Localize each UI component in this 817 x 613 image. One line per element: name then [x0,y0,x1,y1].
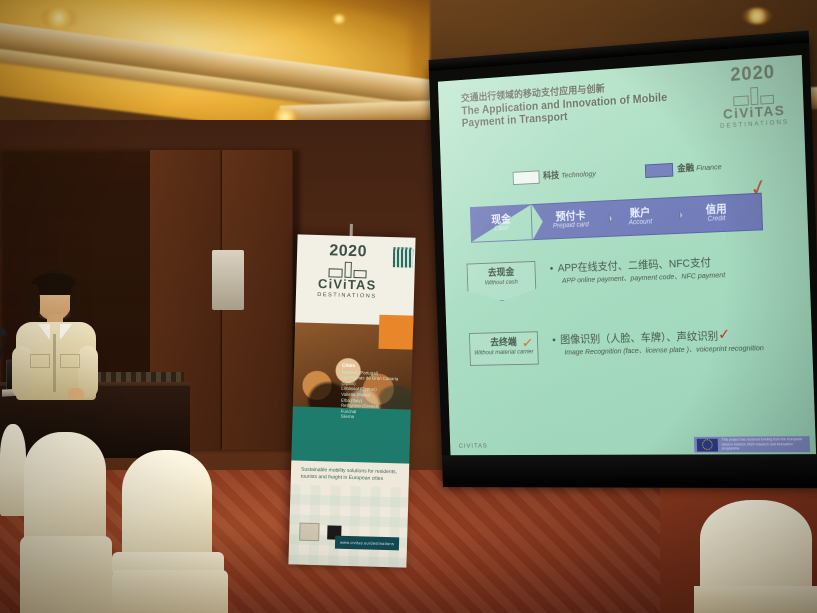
legend-label-technology-cn: 科技 [543,170,559,180]
eu-flag-icon [697,438,718,451]
flow-step-account: 账户 Account [600,197,681,237]
flow-step-prepaid-card: 预付卡 Prepaid card [531,200,610,240]
flow-step-account-en: Account [629,218,653,227]
civitas-logo: 2020 CiViTAS DESTINATIONS [711,62,797,144]
bullet-dot-icon-2: • [552,335,556,347]
presenter-hair-right [70,284,82,324]
bullets-without-cash: •APP在线支付、二维码、NFC支付 APP online payment、pa… [550,254,726,287]
slide-footer-civitas: CIVITAS [459,443,488,450]
sponsor-logo-1 [299,523,319,542]
slide-title: 交通出行领域的移动支付应用与创新 The Application and Inn… [461,75,717,131]
presenter-collar-left [38,324,50,340]
slide-legend: 科技 Technology 金融 Finance [513,156,783,185]
presenter-pocket-right [60,354,80,368]
conference-room-photo: 交通出行领域的移动支付应用与创新 The Application and Inn… [0,0,817,613]
legend-label-finance-en: Finance [696,162,722,172]
legend-swatch-technology [513,170,540,185]
presenter-pocket-left [30,354,50,368]
slide-row-without-cash: 去现金 Without cash •APP在线支付、二维码、NFC支付 APP … [467,254,726,302]
screen-bottom-bar [442,454,817,488]
downlight-1 [40,8,78,28]
banner-cities-list: Cities Madeira (Portugal) Las Palmas de … [340,364,404,422]
banner-orange-block [378,315,413,350]
flow-step-cash-en: Cash [494,225,509,233]
presentation-slide: 交通出行领域的移动支付应用与创新 The Application and Inn… [438,55,816,455]
legend-label-finance-cn: 金融 [677,163,694,174]
bullet-dot-icon: • [550,263,554,275]
legend-item-finance: 金融 Finance [645,159,722,178]
presenter-hand [68,388,84,400]
presenter-hair-left [28,284,40,324]
downlight-5 [742,8,772,24]
legend-swatch-finance [645,163,673,178]
payment-evolution-flow: 现金 Cash 预付卡 Prepaid card 账户 Account 信用 C… [470,192,775,243]
pa-speaker [212,250,244,310]
flow-step-cash: 现金 Cash [470,204,533,243]
tag-check-icon: ✓ [522,334,535,353]
slide-row-without-material-carrier: ✓ 去终端 Without material carrier •图像识别（人脸、… [469,325,764,365]
flow-step-prepaid-card-en: Prepaid card [553,221,589,230]
tag-without-cash: 去现金 Without cash [467,261,537,302]
presenter-button-placket [53,334,56,392]
rollup-banner: 2020 CiViTAS DESTINATIONS Cities Madeira… [288,234,415,567]
flow-step-credit-en: Credit [707,215,725,224]
legend-label-technology-en: Technology [561,169,596,179]
presenter-collar-right [60,324,72,340]
eu-funding-text: This project has received funding from t… [721,438,807,452]
banner-tagline: Sustainable mobility solutions for resid… [301,467,399,483]
tag-without-cash-en: Without cash [470,278,534,288]
tag-without-material-carrier: ✓ 去终端 Without material carrier [469,331,539,366]
bullets-without-material-carrier: •图像识别（人脸、车牌）、声纹识别✓ Image Recognition (fa… [552,325,764,357]
banner-civitas-logo: 2020 CiViTAS DESTINATIONS [310,243,386,301]
banner-qr-code-icon [393,247,414,268]
flow-step-credit: 信用 Credit [670,193,763,235]
presenter [8,276,104,396]
projection-screen: 交通出行领域的移动支付应用与创新 The Application and Inn… [429,30,817,490]
inline-check-icon: ✓ [718,327,731,343]
eu-funding-badge: This project has received funding from t… [694,436,810,452]
presenter-arm-left [12,346,32,398]
legend-item-technology: 科技 Technology [513,166,596,185]
downlight-6 [330,14,348,24]
banner-url: www.civitas.eu/destinations [335,536,399,551]
